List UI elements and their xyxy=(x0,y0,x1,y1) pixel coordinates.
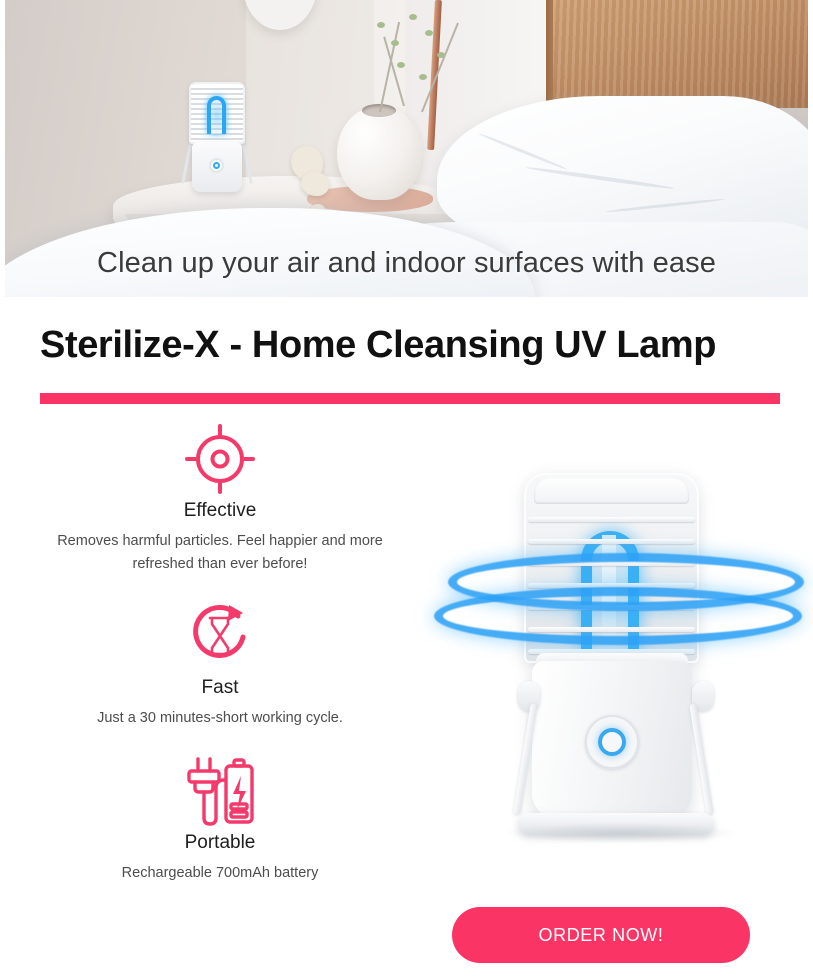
power-indicator-ring xyxy=(598,728,626,756)
uv-wave-ring xyxy=(434,587,802,645)
feature-description: Rechargeable 700mAh battery xyxy=(40,862,400,885)
branch-leaf xyxy=(391,40,399,46)
feature-list: Effective Removes harmful particles. Fee… xyxy=(0,420,440,886)
product-illustration xyxy=(440,435,813,895)
branch-leaf xyxy=(377,22,385,28)
decor-stone xyxy=(301,172,329,196)
feature-item: Portable Rechargeable 700mAh battery xyxy=(0,752,440,885)
feature-description: Just a 30 minutes-short working cycle. xyxy=(40,707,400,730)
ceramic-vase xyxy=(337,107,422,200)
feature-title: Fast xyxy=(0,677,440,699)
landing-page: Clean up your air and indoor surfaces wi… xyxy=(0,0,813,976)
stand-leg xyxy=(689,703,713,815)
lamp-power-indicator xyxy=(213,162,220,169)
hero-caption: Clean up your air and indoor surfaces wi… xyxy=(5,247,808,280)
content-area: Effective Removes harmful particles. Fee… xyxy=(0,420,813,976)
bed-headboard xyxy=(553,0,808,108)
lamp-stand-leg xyxy=(181,144,192,184)
target-crosshair-icon xyxy=(0,420,440,498)
feature-title: Effective xyxy=(0,500,440,522)
branch-leaf xyxy=(397,62,405,68)
feature-description: Removes harmful particles. Feel happier … xyxy=(40,530,400,577)
cage-slat xyxy=(528,539,695,544)
feature-item: Effective Removes harmful particles. Fee… xyxy=(0,420,440,577)
product-shadow xyxy=(504,823,740,843)
accent-divider xyxy=(40,393,780,404)
uv-tube xyxy=(207,96,226,134)
branch-leaf xyxy=(437,52,445,58)
order-now-button[interactable]: ORDER NOW! xyxy=(452,907,750,963)
hero-uv-lamp xyxy=(183,82,251,202)
feature-title: Portable xyxy=(0,832,440,854)
hourglass-cycle-icon xyxy=(0,597,440,675)
branch-leaf xyxy=(425,30,433,36)
cage-slat xyxy=(528,517,695,522)
page-title: Sterilize-X - Home Cleansing UV Lamp xyxy=(40,324,785,367)
wood-grain-texture xyxy=(553,0,808,108)
cage-top-lip xyxy=(534,478,689,504)
hero-banner: Clean up your air and indoor surfaces wi… xyxy=(5,0,808,297)
branch-leaf xyxy=(419,74,427,80)
branch-leaf xyxy=(409,14,417,20)
feature-item: Fast Just a 30 minutes-short working cyc… xyxy=(0,597,440,730)
plug-battery-icon xyxy=(0,752,440,830)
